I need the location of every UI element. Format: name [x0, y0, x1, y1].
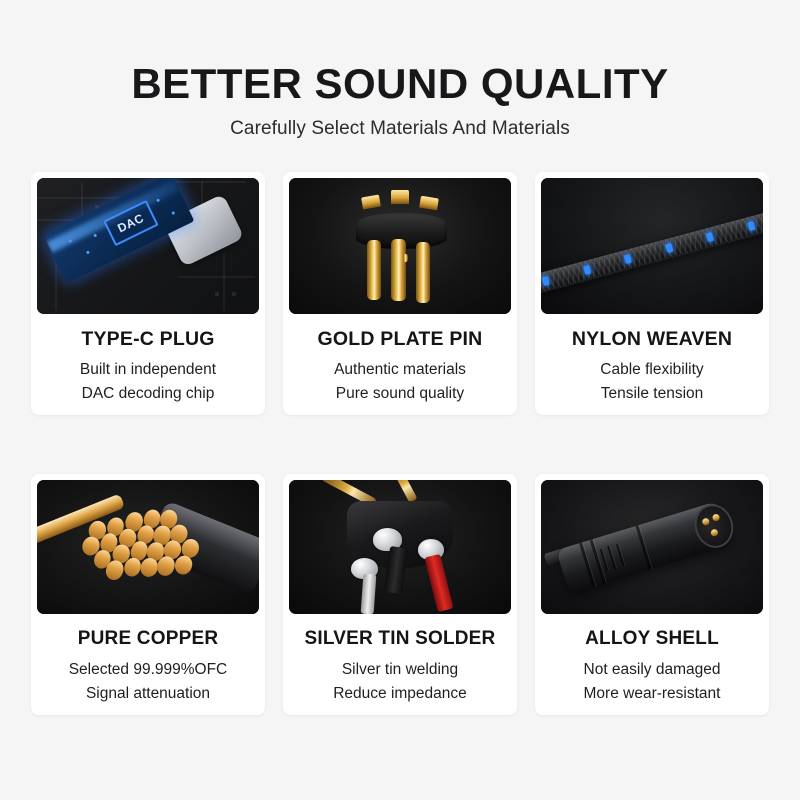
- card-line-1: Cable flexibility: [543, 359, 761, 381]
- card-title: SILVER TIN SOLDER: [291, 628, 509, 650]
- feature-card-pure-copper[interactable]: PURE COPPER Selected 99.999%OFC Signal a…: [31, 474, 265, 715]
- gold-plate-pin-photo: [289, 178, 511, 314]
- card-body: GOLD PLATE PIN Authentic materials Pure …: [283, 314, 517, 415]
- card-line-2: Reduce impedance: [291, 683, 509, 705]
- card-body: PURE COPPER Selected 99.999%OFC Signal a…: [31, 614, 265, 715]
- card-line-1: Selected 99.999%OFC: [39, 659, 257, 681]
- feature-card-type-c-plug[interactable]: DAC TYPE-C PLUG Built in independent DAC…: [31, 172, 265, 415]
- card-title: NYLON WEAVEN: [543, 328, 761, 350]
- card-title: GOLD PLATE PIN: [291, 328, 509, 350]
- dac-chip-label: DAC: [103, 200, 159, 247]
- feature-card-gold-plate-pin[interactable]: GOLD PLATE PIN Authentic materials Pure …: [283, 172, 517, 415]
- card-line-1: Authentic materials: [291, 359, 509, 381]
- feature-card-nylon-weaven[interactable]: NYLON WEAVEN Cable flexibility Tensile t…: [535, 172, 769, 415]
- card-line-1: Silver tin welding: [291, 659, 509, 681]
- card-title: PURE COPPER: [39, 628, 257, 650]
- type-c-plug-photo: DAC: [37, 178, 259, 314]
- card-line-1: Not easily damaged: [543, 659, 761, 681]
- nylon-weaven-cable-photo: [541, 178, 763, 314]
- silver-tin-solder-photo: [289, 480, 511, 614]
- card-line-2: DAC decoding chip: [39, 383, 257, 405]
- card-body: ALLOY SHELL Not easily damaged More wear…: [535, 614, 769, 715]
- page-subtitle: Carefully Select Materials And Materials: [0, 118, 800, 140]
- card-title: TYPE-C PLUG: [39, 328, 257, 350]
- card-body: NYLON WEAVEN Cable flexibility Tensile t…: [535, 314, 769, 415]
- card-body: TYPE-C PLUG Built in independent DAC dec…: [31, 314, 265, 415]
- feature-card-silver-tin-solder[interactable]: SILVER TIN SOLDER Silver tin welding Red…: [283, 474, 517, 715]
- page-title: BETTER SOUND QUALITY: [0, 62, 800, 106]
- pure-copper-photo: [37, 480, 259, 614]
- card-line-1: Built in independent: [39, 359, 257, 381]
- card-line-2: More wear-resistant: [543, 683, 761, 705]
- card-line-2: Signal attenuation: [39, 683, 257, 705]
- infographic-page: BETTER SOUND QUALITY Carefully Select Ma…: [0, 0, 800, 800]
- header: BETTER SOUND QUALITY Carefully Select Ma…: [0, 0, 800, 140]
- card-line-2: Pure sound quality: [291, 383, 509, 405]
- feature-card-alloy-shell[interactable]: ALLOY SHELL Not easily damaged More wear…: [535, 474, 769, 715]
- feature-card-grid: DAC TYPE-C PLUG Built in independent DAC…: [31, 172, 769, 715]
- card-body: SILVER TIN SOLDER Silver tin welding Red…: [283, 614, 517, 715]
- alloy-shell-photo: [541, 480, 763, 614]
- card-title: ALLOY SHELL: [543, 628, 761, 650]
- card-line-2: Tensile tension: [543, 383, 761, 405]
